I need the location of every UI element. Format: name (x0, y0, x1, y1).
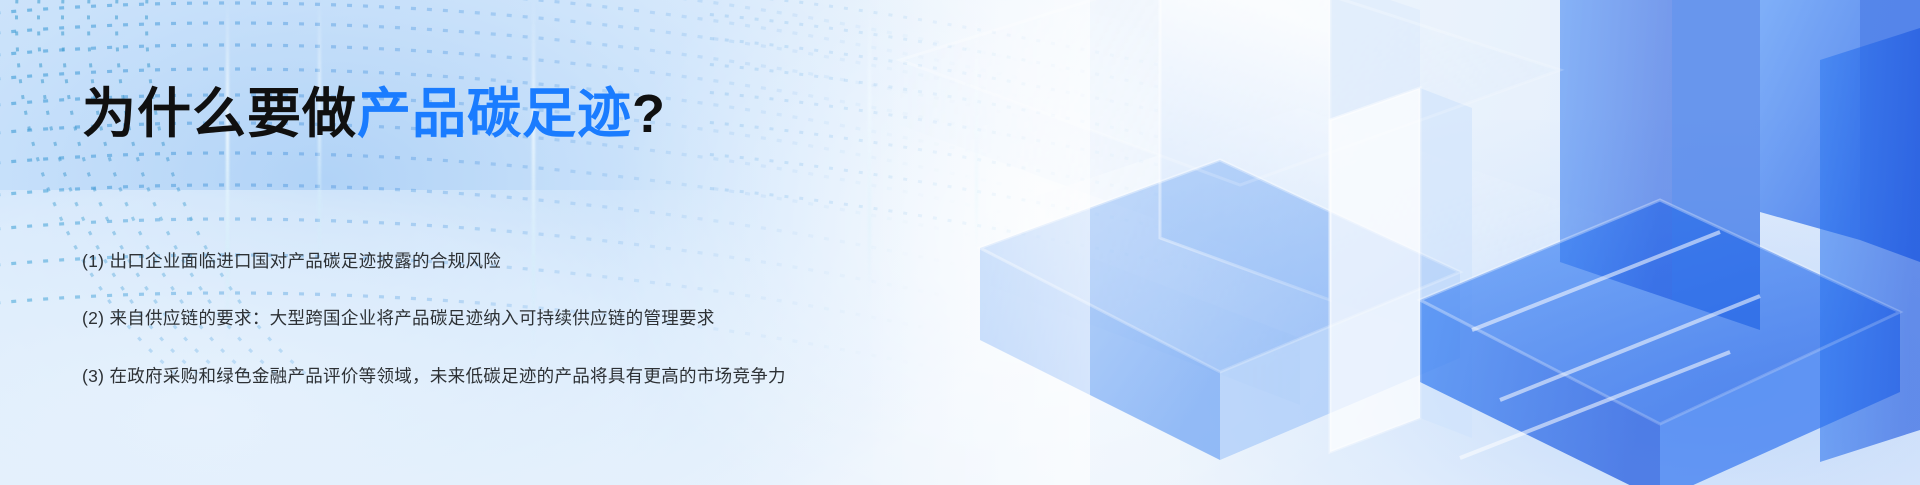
isometric-glass-graphic (860, 0, 1920, 485)
title-question-mark: ? (632, 84, 666, 144)
bullet-item-2: (2) 来自供应链的要求：大型跨国企业将产品碳足迹纳入可持续供应链的管理要求 (82, 305, 715, 331)
banner-content: 为什么要做产品碳足迹? (1) 出口企业面临进口国对产品碳足迹披露的合规风险 (… (0, 0, 1000, 485)
bullet-item-3: (3) 在政府采购和绿色金融产品评价等领域，未来低碳足迹的产品将具有更高的市场竞… (82, 363, 786, 389)
bullet-item-1: (1) 出口企业面临进口国对产品碳足迹披露的合规风险 (82, 248, 501, 274)
page-title: 为什么要做产品碳足迹? (82, 82, 666, 146)
background-wash-bottom-right (1180, 120, 1920, 485)
title-lead: 为什么要做 (82, 84, 357, 144)
hero-banner: 为什么要做产品碳足迹? (1) 出口企业面临进口国对产品碳足迹披露的合规风险 (… (0, 0, 1920, 485)
title-highlight: 产品碳足迹 (357, 84, 632, 144)
